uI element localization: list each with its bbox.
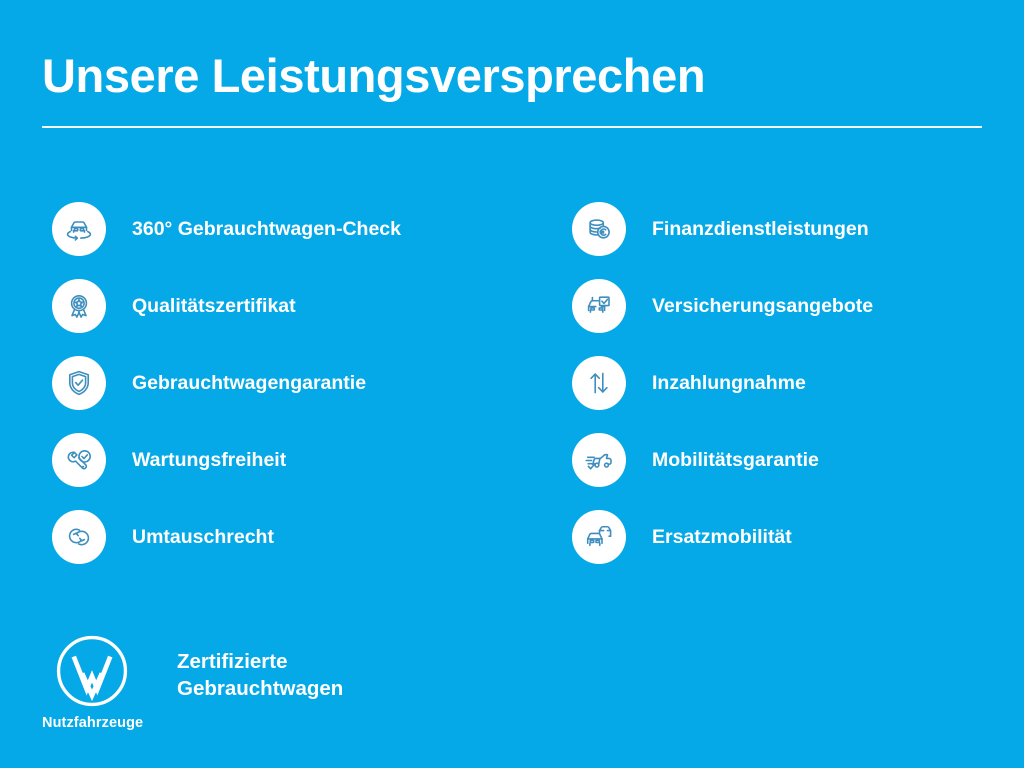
slide-root: Unsere Leistungsversprechen — [0, 0, 1024, 768]
slide-header: Unsere Leistungsversprechen — [42, 48, 982, 128]
arrows-up-down-icon — [572, 356, 626, 410]
promise-label: Finanzdienstleistungen — [652, 217, 869, 241]
coins-euro-icon — [572, 202, 626, 256]
volkswagen-logo — [54, 633, 130, 709]
promise-item-inzahlungnahme[interactable]: Inzahlungnahme — [572, 356, 1024, 410]
promise-item-ersatzmobilitaet[interactable]: Ersatzmobilität — [572, 510, 1024, 564]
promise-item-versicherungsangebote[interactable]: Versicherungsangebote — [572, 279, 1024, 333]
brand-claim-line-1: Zertifizierte — [177, 648, 343, 675]
brand-mark: Nutzfahrzeuge — [42, 633, 146, 731]
title-divider — [42, 126, 982, 128]
promises-column-right: Finanzdienstleistungen — [0, 202, 1024, 587]
promise-label: Versicherungsangebote — [652, 294, 873, 318]
promise-label: Mobilitätsgarantie — [652, 448, 819, 472]
car-speed-check-icon — [572, 433, 626, 487]
promise-item-finanzdienstleistungen[interactable]: Finanzdienstleistungen — [572, 202, 1024, 256]
brand-claim-line-2: Gebrauchtwagen — [177, 675, 343, 702]
promises-grid: 360° Gebrauchtwagen-Check Qualitätszerti… — [0, 202, 1024, 587]
page-title: Unsere Leistungsversprechen — [42, 48, 982, 104]
car-checkbox-icon — [572, 279, 626, 333]
brand-footer: Nutzfahrzeuge Zertifizierte Gebrauchtwag… — [42, 633, 343, 731]
two-cars-icon — [572, 510, 626, 564]
brand-sub-label: Nutzfahrzeuge — [42, 715, 146, 731]
promise-label: Inzahlungnahme — [652, 371, 806, 395]
promise-label: Ersatzmobilität — [652, 525, 792, 549]
promise-item-mobilitaetsgarantie[interactable]: Mobilitätsgarantie — [572, 433, 1024, 487]
brand-claim: Zertifizierte Gebrauchtwagen — [177, 648, 343, 702]
